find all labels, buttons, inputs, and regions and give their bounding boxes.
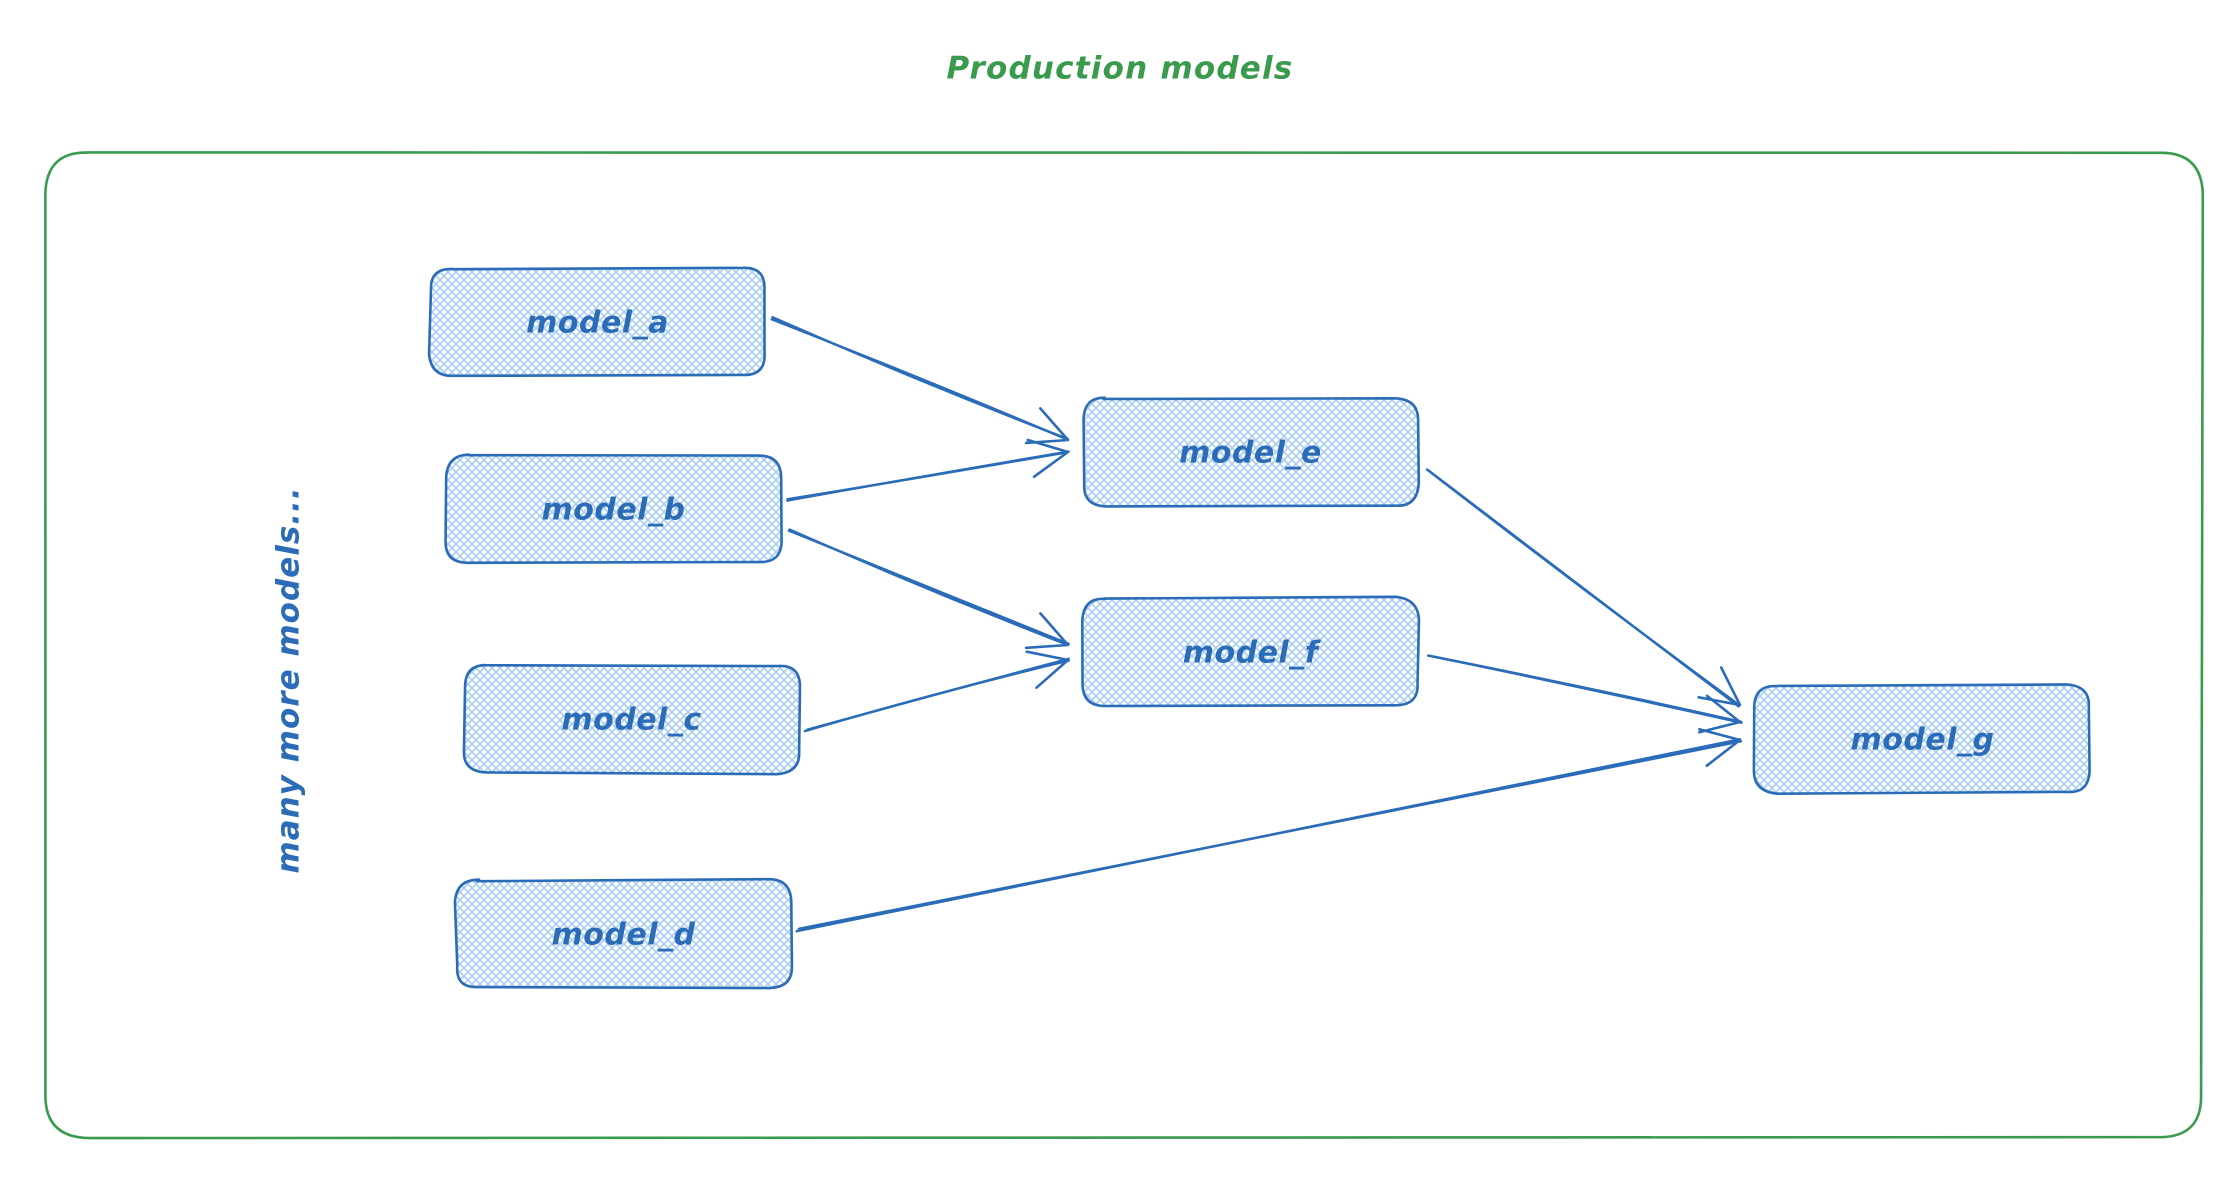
edge-model_b-to-model_f [789,530,1069,648]
page-title: Production models [947,51,1294,87]
node-model_g[interactable]: model_g [1754,684,2090,793]
nodes-layer: model_amodel_bmodel_cmodel_dmodel_emodel… [429,268,2090,988]
edge-model_e-to-model_g [1427,470,1740,707]
side-note: many more models... [271,486,307,873]
side-note-label: many more models... [271,486,307,873]
edge-model_b-to-model_e [787,440,1068,501]
node-model_c[interactable]: model_c [464,665,800,774]
edge-model_f-to-model_g [1428,656,1741,733]
node-label-model_g: model_g [1851,723,1995,758]
node-label-model_b: model_b [542,493,686,528]
edge-model_d-to-model_g [797,729,1741,931]
node-label-model_a: model_a [526,306,669,341]
edge-model_c-to-model_f [805,652,1069,731]
node-label-model_d: model_d [552,918,696,953]
node-model_d[interactable]: model_d [455,879,792,988]
node-model_f[interactable]: model_f [1082,597,1419,706]
diagram-svg: Production models many more models... mo… [0,0,2240,1188]
edge-model_a-to-model_e [772,317,1068,443]
node-model_b[interactable]: model_b [446,454,782,562]
node-model_e[interactable]: model_e [1084,398,1419,507]
node-label-model_e: model_e [1179,436,1322,471]
node-label-model_c: model_c [561,703,701,738]
node-model_a[interactable]: model_a [429,268,765,376]
diagram-canvas: Production models many more models... mo… [0,0,2240,1188]
node-label-model_f: model_f [1183,636,1322,671]
